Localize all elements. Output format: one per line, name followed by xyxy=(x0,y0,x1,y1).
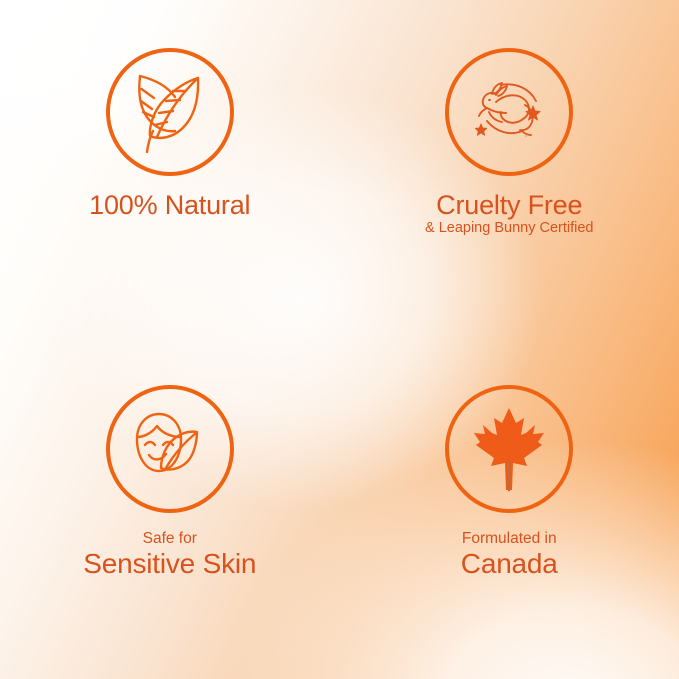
badge-natural: 100% Natural xyxy=(0,0,340,340)
badge-panel: 100% Natural xyxy=(0,0,679,679)
badge-cruelty-free-subtitle: & Leaping Bunny Certified xyxy=(425,221,593,236)
badge-sensitive-skin-labels: Safe for Sensitive Skin xyxy=(83,531,256,579)
badge-cruelty-free-circle xyxy=(445,48,573,176)
badge-sensitive-skin: Safe for Sensitive Skin xyxy=(0,340,340,679)
badge-canada-subtitle: Formulated in xyxy=(461,531,558,547)
badge-canada-circle xyxy=(445,385,573,513)
badge-canada: Formulated in Canada xyxy=(340,340,679,679)
sensitive-face-leaf-icon xyxy=(125,407,215,491)
badge-natural-labels: 100% Natural xyxy=(89,191,250,220)
badge-natural-circle xyxy=(106,48,234,176)
badge-cruelty-free: Cruelty Free & Leaping Bunny Certified xyxy=(340,0,679,340)
badge-natural-title: 100% Natural xyxy=(89,191,250,220)
badge-grid: 100% Natural xyxy=(0,0,679,679)
leaping-bunny-icon xyxy=(463,72,555,152)
badge-sensitive-skin-subtitle: Safe for xyxy=(83,531,256,547)
leaf-icon xyxy=(128,69,212,155)
badge-sensitive-skin-circle xyxy=(106,385,234,513)
badge-cruelty-free-title: Cruelty Free xyxy=(425,191,593,220)
badge-sensitive-skin-title: Sensitive Skin xyxy=(83,549,256,579)
maple-leaf-icon xyxy=(466,404,552,494)
badge-cruelty-free-labels: Cruelty Free & Leaping Bunny Certified xyxy=(425,191,593,236)
badge-canada-labels: Formulated in Canada xyxy=(461,531,558,579)
badge-canada-title: Canada xyxy=(461,549,558,579)
